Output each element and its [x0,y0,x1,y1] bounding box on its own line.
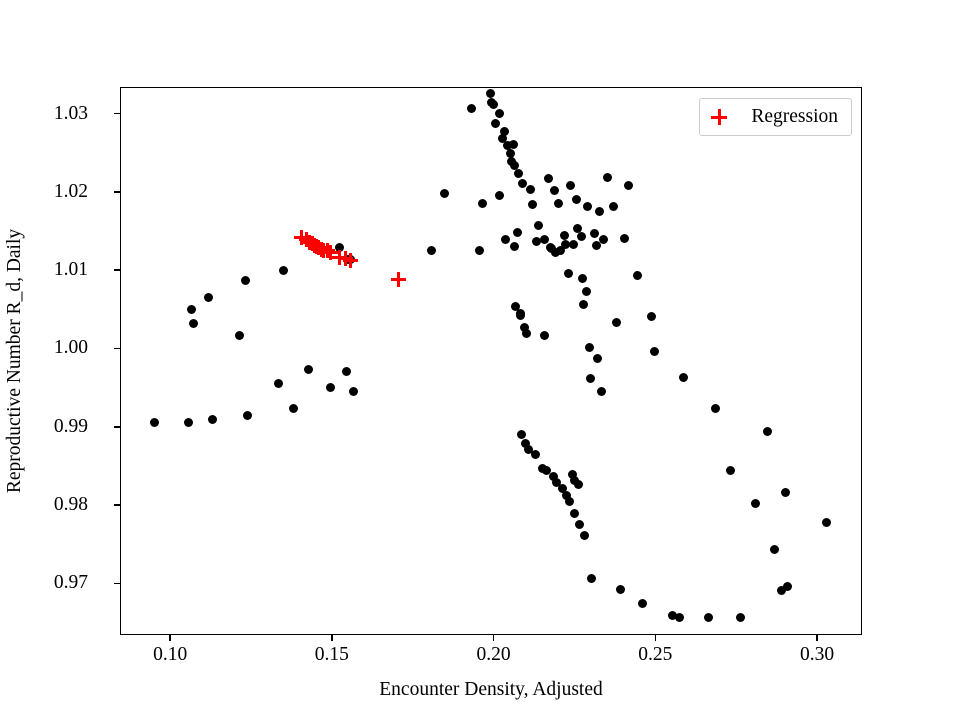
data-point [189,319,198,328]
y-axis-tick-label: 0.97 [54,572,88,594]
x-axis-tick-label: 0.15 [315,644,349,666]
data-point [582,287,591,296]
x-axis-tick [655,635,657,641]
data-point [243,411,252,420]
x-axis-tick-label: 0.30 [800,644,834,666]
data-point [572,195,581,204]
data-point [577,232,586,241]
data-point [495,191,504,200]
data-point [509,140,518,149]
data-point [544,174,553,183]
legend-entry-label: Regression [751,106,838,128]
data-point [580,531,589,540]
data-point [770,545,779,554]
data-point [478,199,487,208]
data-point [587,574,596,583]
x-axis-tick [331,635,333,641]
data-point [679,373,688,382]
data-point [781,488,790,497]
data-point [516,311,525,320]
data-point [495,109,504,118]
y-axis-tick-label: 0.99 [54,416,88,438]
data-point [569,240,578,249]
data-point [593,354,602,363]
data-point [579,300,588,309]
data-point [467,104,476,113]
data-point [427,246,436,255]
data-point [633,271,642,280]
data-point [822,518,831,527]
data-point [491,119,500,128]
data-point [289,404,298,413]
data-point [550,186,559,195]
data-point [326,383,335,392]
plot-area: Regression [120,87,862,635]
data-point [751,499,760,508]
data-point [514,169,523,178]
x-axis-label: Encounter Density, Adjusted [120,679,862,701]
data-point [564,269,573,278]
data-point [675,613,684,622]
y-axis-label-text: Reproductive Number R_d, Daily [4,229,26,493]
data-point [783,582,792,591]
y-axis-tick-label: 1.00 [54,337,88,359]
x-axis-tick-label: 0.25 [638,644,672,666]
data-point [187,305,196,314]
data-point [343,253,358,268]
data-point [565,497,574,506]
data-point [704,613,713,622]
data-point [241,276,250,285]
data-point [554,199,563,208]
data-point [531,450,540,459]
data-point [342,367,351,376]
data-point [726,466,735,475]
y-axis-label: Reproductive Number R_d, Daily [0,87,30,635]
data-point [500,127,509,136]
data-point [440,189,449,198]
data-point [150,418,159,427]
y-axis-tick-label: 1.01 [54,259,88,281]
x-axis-tick-label: 0.10 [153,644,187,666]
data-point [612,318,621,327]
data-point [528,200,537,209]
data-point [616,585,625,594]
data-point [574,480,583,489]
y-axis-tick-label: 1.02 [54,181,88,203]
data-point [585,343,594,352]
data-point [489,100,498,109]
data-point [560,231,569,240]
data-point [570,509,579,518]
data-point [595,207,604,216]
y-axis-tick-label: 0.98 [54,494,88,516]
data-point [475,246,484,255]
data-point [711,404,720,413]
data-point [279,266,288,275]
x-axis-label-text: Encounter Density, Adjusted [379,679,603,700]
data-point [603,173,612,182]
legend[interactable]: Regression [699,98,852,136]
data-point [204,293,213,302]
data-point [391,272,406,287]
data-point [513,228,522,237]
x-axis-tick-label: 0.20 [477,644,511,666]
data-point [609,202,618,211]
data-point [526,185,535,194]
data-point [583,202,592,211]
data-point [540,331,549,340]
data-point [486,89,495,98]
x-axis-tick [493,635,495,641]
data-point [540,235,549,244]
scatter-plot-figure: Reproductive Number R_d, Daily 0.970.980… [0,0,960,720]
data-point [517,430,526,439]
data-point [624,181,633,190]
data-point [534,221,543,230]
data-point [349,387,358,396]
data-point [597,387,606,396]
data-point [590,229,599,238]
data-points-layer [121,88,861,634]
data-point [208,415,217,424]
data-point [599,235,608,244]
y-axis-tick-label: 1.03 [54,103,88,125]
plus-marker-icon [711,109,727,125]
data-point [638,599,647,608]
data-point [501,235,510,244]
data-point [522,329,531,338]
data-point [578,274,587,283]
data-point [575,520,584,529]
x-axis-tick [169,635,171,641]
data-point [566,181,575,190]
data-point [235,331,244,340]
data-point [620,234,629,243]
data-point [586,374,595,383]
x-axis-tick [816,635,818,641]
data-point [274,379,283,388]
data-point [647,312,656,321]
data-point [304,365,313,374]
data-point [650,347,659,356]
data-point [184,418,193,427]
data-point [510,242,519,251]
data-point [736,613,745,622]
data-point [763,427,772,436]
